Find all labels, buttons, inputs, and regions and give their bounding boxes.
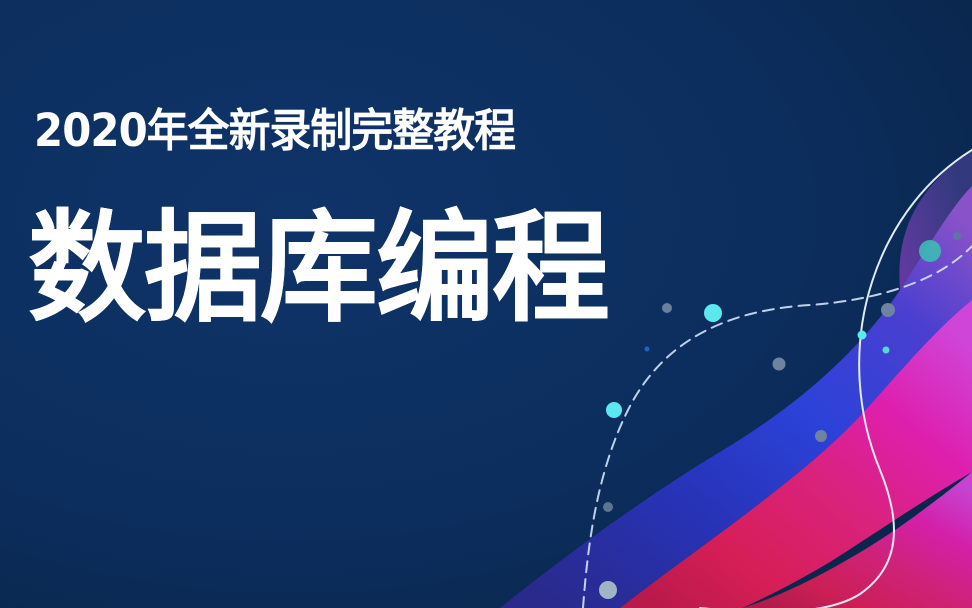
- dot-gray-7: [953, 232, 961, 240]
- dot-gray-3: [815, 430, 827, 442]
- dot-gray-5: [603, 502, 613, 512]
- dot-cyan-teal-1: [919, 240, 941, 262]
- dot-cyan-small-2: [883, 347, 890, 354]
- dot-gray-6: [599, 581, 617, 599]
- dot-cyan-small-1: [858, 331, 867, 340]
- course-banner: 2020年全新录制完整教程 数据库编程: [0, 0, 972, 608]
- decorative-artwork: [0, 0, 972, 608]
- dot-cyan-large-1: [606, 402, 622, 418]
- dot-cyan-large-2: [704, 304, 722, 322]
- dot-gray-4: [881, 303, 895, 317]
- dot-blue-tiny-1: [645, 347, 650, 352]
- dot-gray-1: [662, 303, 672, 313]
- dot-gray-2: [773, 358, 786, 371]
